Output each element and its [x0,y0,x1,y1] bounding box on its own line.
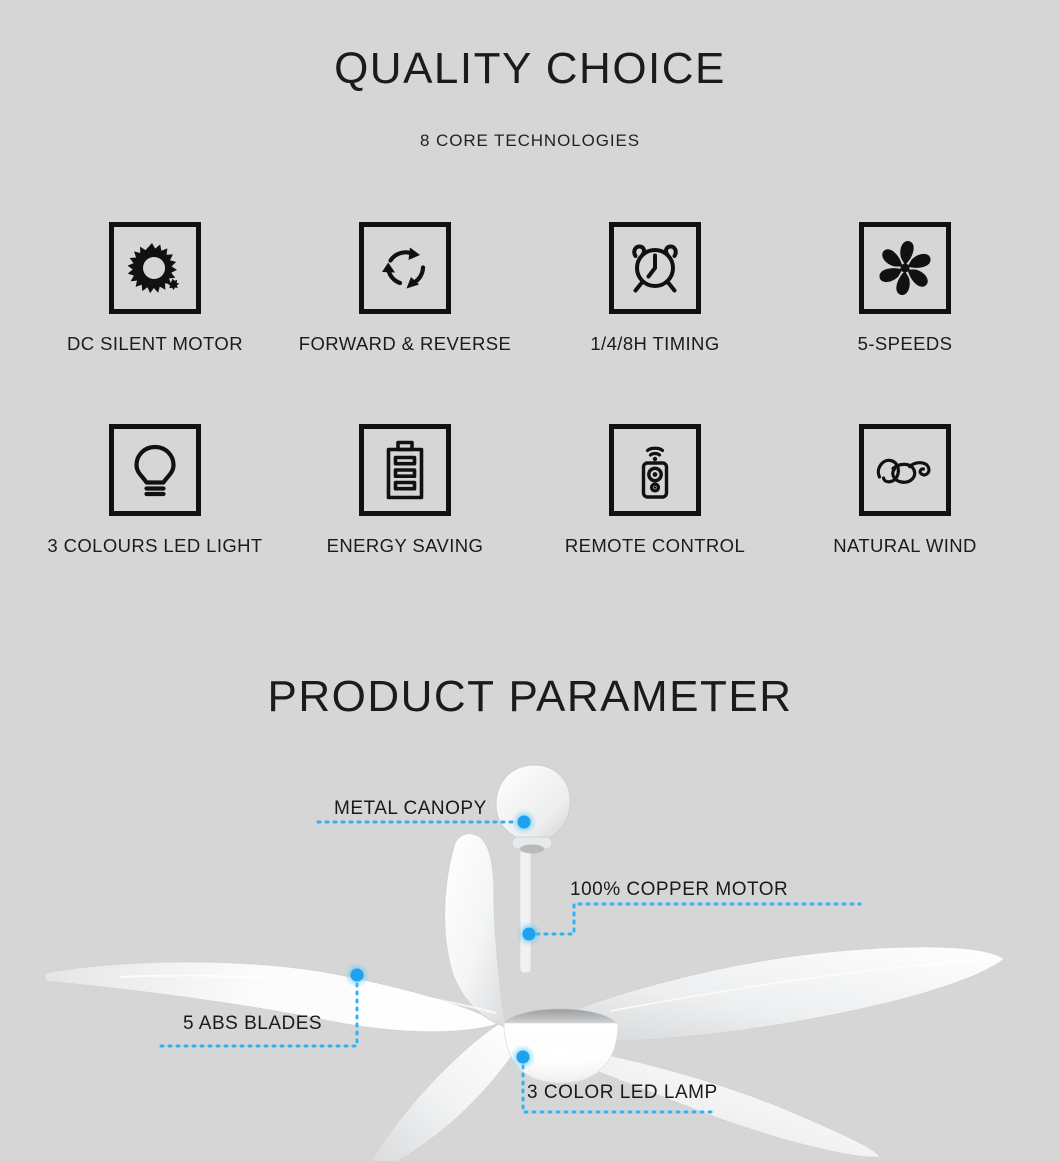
feature-label: ENERGY SAVING [327,535,484,557]
product-parameter-title: PRODUCT PARAMETER [0,672,1060,722]
callout-label-copper-motor: 100% COPPER MOTOR [570,879,788,901]
feature-row-top: DC SILENT MOTOR FORWARD & REV [30,222,1030,355]
callout-label-abs-blades: 5 ABS BLADES [183,1013,322,1035]
feature-remote-control: REMOTE CONTROL [530,424,780,557]
callout-label-metal-canopy: METAL CANOPY [334,798,487,820]
alarm-clock-icon [609,222,701,314]
product-infographic-page: QUALITY CHOICE 8 CORE TECHNOLOGIES DC SI… [0,0,1060,1161]
feature-label: REMOTE CONTROL [565,535,745,557]
feature-forward-reverse: FORWARD & REVERSE [280,222,530,355]
feature-label: FORWARD & REVERSE [299,333,511,355]
gear-icon [109,222,201,314]
light-bulb-icon [109,424,201,516]
quality-choice-title: QUALITY CHOICE [0,44,1060,94]
feature-label: NATURAL WIND [833,535,977,557]
feature-label: 5-SPEEDS [858,333,953,355]
wind-swirl-icon [859,424,951,516]
feature-speeds: 5-SPEEDS [780,222,1030,355]
core-technologies-subtitle: 8 CORE TECHNOLOGIES [0,131,1060,151]
feature-timing: 1/4/8H TIMING [530,222,780,355]
feature-led-light: 3 COLOURS LED LIGHT [30,424,280,557]
feature-energy-saving: ENERGY SAVING [280,424,530,557]
feature-row-bottom: 3 COLOURS LED LIGHT ENERGY SAVING [30,424,1030,557]
feature-dc-silent-motor: DC SILENT MOTOR [30,222,280,355]
feature-label: 3 COLOURS LED LIGHT [47,535,262,557]
circular-arrows-icon [359,222,451,314]
feature-natural-wind: NATURAL WIND [780,424,1030,557]
feature-label: 1/4/8H TIMING [590,333,719,355]
callout-label-led-lamp: 3 COLOR LED LAMP [527,1082,718,1104]
battery-icon [359,424,451,516]
feature-label: DC SILENT MOTOR [67,333,243,355]
remote-control-icon [609,424,701,516]
fan-blades-icon [859,222,951,314]
